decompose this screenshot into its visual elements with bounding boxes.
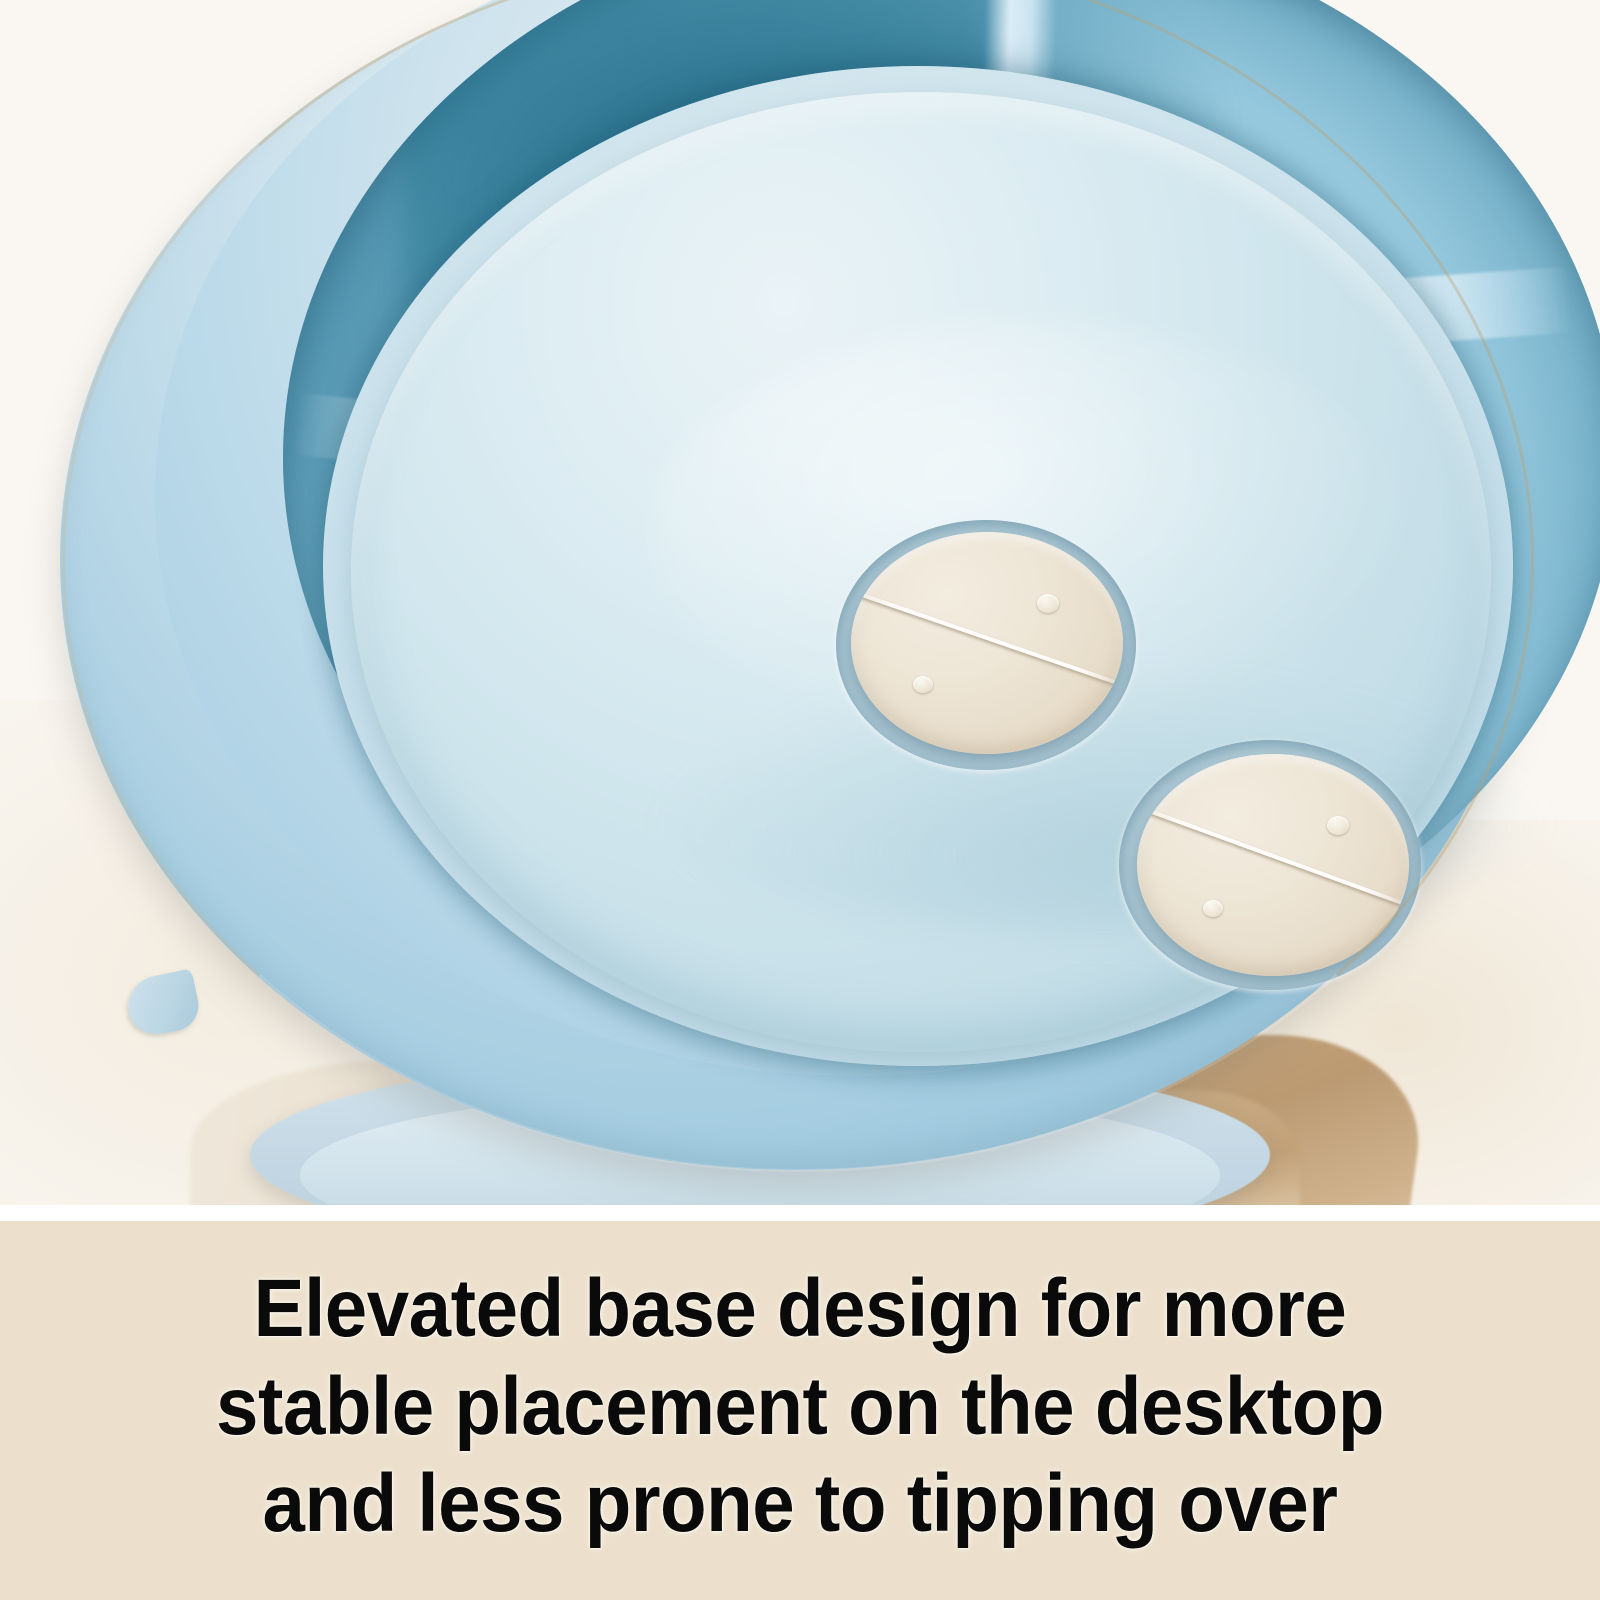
- bowl-side-tab: [123, 968, 204, 1039]
- foot-pad-seam-1: [851, 587, 1123, 688]
- foot-pad-2: [1137, 754, 1409, 976]
- foot-pad-dimple-1a: [1037, 594, 1059, 613]
- centre-plate: [351, 92, 1491, 1052]
- foot-pad-seam-2: [1137, 803, 1409, 909]
- bowl-outer-rim: [60, 0, 1530, 1170]
- foot-pad-dimple-2a: [1327, 816, 1349, 835]
- caption-line-2: stable placement on the desktop: [93, 1358, 1507, 1456]
- bowl-lip: [155, 0, 1555, 1076]
- product-photo: [0, 0, 1600, 1216]
- foot-pad-dimple-1b: [913, 676, 933, 693]
- foot-pad-dimple-2b: [1203, 900, 1223, 917]
- foot-pad-1: [851, 532, 1123, 754]
- caption-line-1: Elevated base design for more: [93, 1260, 1507, 1358]
- product-feature-image: Elevated base design for more stable pla…: [0, 0, 1600, 1600]
- caption-band: Elevated base design for more stable pla…: [0, 1221, 1600, 1600]
- caption-line-3: and less prone to tipping over: [93, 1455, 1507, 1553]
- caption-divider: [0, 1205, 1600, 1221]
